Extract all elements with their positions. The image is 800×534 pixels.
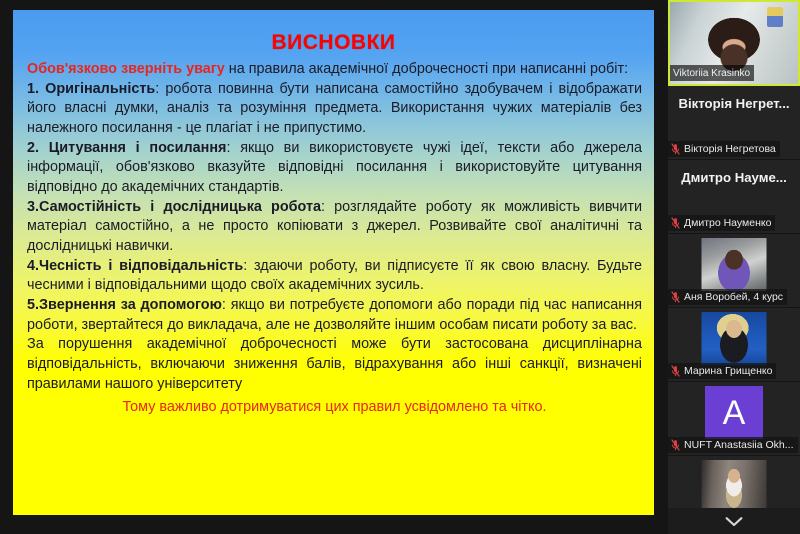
- slide-item-5: 5.Звернення за допомогою: якщо ви потреб…: [27, 296, 642, 335]
- participant-name-bar: Viktoriia Krasinko: [670, 65, 754, 81]
- participant-name-label: Viktoriia Krasinko: [673, 68, 750, 79]
- slide-intro-paragraph: Обов'язково зверніть увагу на правила ак…: [27, 60, 642, 80]
- participant-video-darya-synyavska: [702, 460, 767, 513]
- mic-muted-icon: [671, 365, 680, 377]
- participant-video-maryna-hryshchenko: [702, 312, 767, 365]
- participant-tile-maryna-hryshchenko[interactable]: Марина Грищенко: [668, 308, 800, 382]
- slide-intro-rest: на правила академічної доброчесності при…: [225, 61, 628, 77]
- participant-name-label: Аня Воробей, 4 курс: [684, 291, 783, 303]
- participant-video-frame: [702, 460, 767, 513]
- participant-name-label: Марина Грищенко: [684, 365, 772, 377]
- avatar: A: [705, 386, 763, 439]
- participant-display-name: Вікторія Негрет...: [668, 96, 800, 111]
- slide-item-3: 3.Самостійність і дослідницька робота: р…: [27, 198, 642, 257]
- participant-video-frame: [702, 312, 767, 365]
- slide-item-3-number: 3.: [27, 199, 39, 215]
- filmstrip-scroll-down-button[interactable]: [668, 508, 800, 534]
- participant-name-label: Дмитро Науменко: [684, 217, 771, 229]
- slide-item-1-term: Оригінальність: [45, 81, 155, 97]
- participant-name-label: Вікторія Негретова: [684, 143, 776, 155]
- zoom-meeting-window: ВИСНОВКИ Обов'язково зверніть увагу на п…: [0, 0, 800, 534]
- presentation-slide: ВИСНОВКИ Обов'язково зверніть увагу на п…: [13, 10, 654, 515]
- slide-intro-highlight: Обов'язково зверніть увагу: [27, 61, 225, 77]
- slide-item-2-term: Цитування і посилання: [49, 140, 227, 156]
- participant-tile-viktoriia-negretova[interactable]: Вікторія Негрет... Вікторія Негретова: [668, 86, 800, 160]
- participant-display-name: Дмитро Науме...: [668, 170, 800, 185]
- slide-body: Обов'язково зверніть увагу на правила ак…: [13, 60, 654, 418]
- participant-name-bar: Аня Воробей, 4 курс: [668, 289, 787, 305]
- shared-screen-region: ВИСНОВКИ Обов'язково зверніть увагу на п…: [0, 0, 668, 534]
- slide-item-3-term: Самостійність і дослідницька робота: [39, 199, 321, 215]
- slide-title: ВИСНОВКИ: [13, 31, 654, 55]
- mic-muted-icon: [671, 291, 680, 303]
- participant-video-anya-vorobey: [702, 238, 767, 291]
- slide-item-5-term: Звернення за допомогою: [39, 297, 222, 313]
- participant-name-bar: Вікторія Негретова: [668, 141, 780, 157]
- participant-name-bar: NUFT Anastasiia Okh...: [668, 437, 798, 453]
- participant-name-label: NUFT Anastasiia Okh...: [684, 439, 794, 451]
- slide-item-4-term: Чесність і відповідальність: [39, 258, 243, 274]
- slide-item-5-number: 5.: [27, 297, 39, 313]
- participant-tile-anya-vorobey[interactable]: Аня Воробей, 4 курс: [668, 234, 800, 308]
- mic-muted-icon: [671, 217, 680, 229]
- participant-name-bar: Марина Грищенко: [668, 363, 776, 379]
- slide-item-2: 2. Цитування і посилання: якщо ви викори…: [27, 139, 642, 198]
- participant-video-frame: [702, 238, 767, 291]
- slide-item-1-number: 1.: [27, 81, 45, 97]
- slide-item-2-number: 2.: [27, 140, 49, 156]
- participant-tile-dmytro-naumenko[interactable]: Дмитро Науме... Дмитро Науменко: [668, 160, 800, 234]
- participant-filmstrip[interactable]: Viktoriia Krasinko Вікторія Негрет... Ві…: [668, 0, 800, 534]
- mic-muted-icon: [671, 143, 680, 155]
- slide-closing-paragraph: Тому важливо дотримуватися цих правил ус…: [27, 398, 642, 418]
- participant-tile-viktoriia-krasinko[interactable]: Viktoriia Krasinko: [668, 0, 800, 86]
- participant-tile-nuft-anastasiia[interactable]: A NUFT Anastasiia Okh...: [668, 382, 800, 456]
- slide-sanctions-paragraph: За порушення академічної доброчесності м…: [27, 335, 642, 394]
- slide-item-4: 4.Чесність і відповідальність: здаючи ро…: [27, 257, 642, 296]
- mic-muted-icon: [671, 439, 680, 451]
- slide-item-1: 1. Оригінальність: робота повинна бути н…: [27, 80, 642, 139]
- slide-item-4-number: 4.: [27, 258, 39, 274]
- chevron-down-icon: [725, 516, 743, 527]
- participant-name-bar: Дмитро Науменко: [668, 215, 775, 231]
